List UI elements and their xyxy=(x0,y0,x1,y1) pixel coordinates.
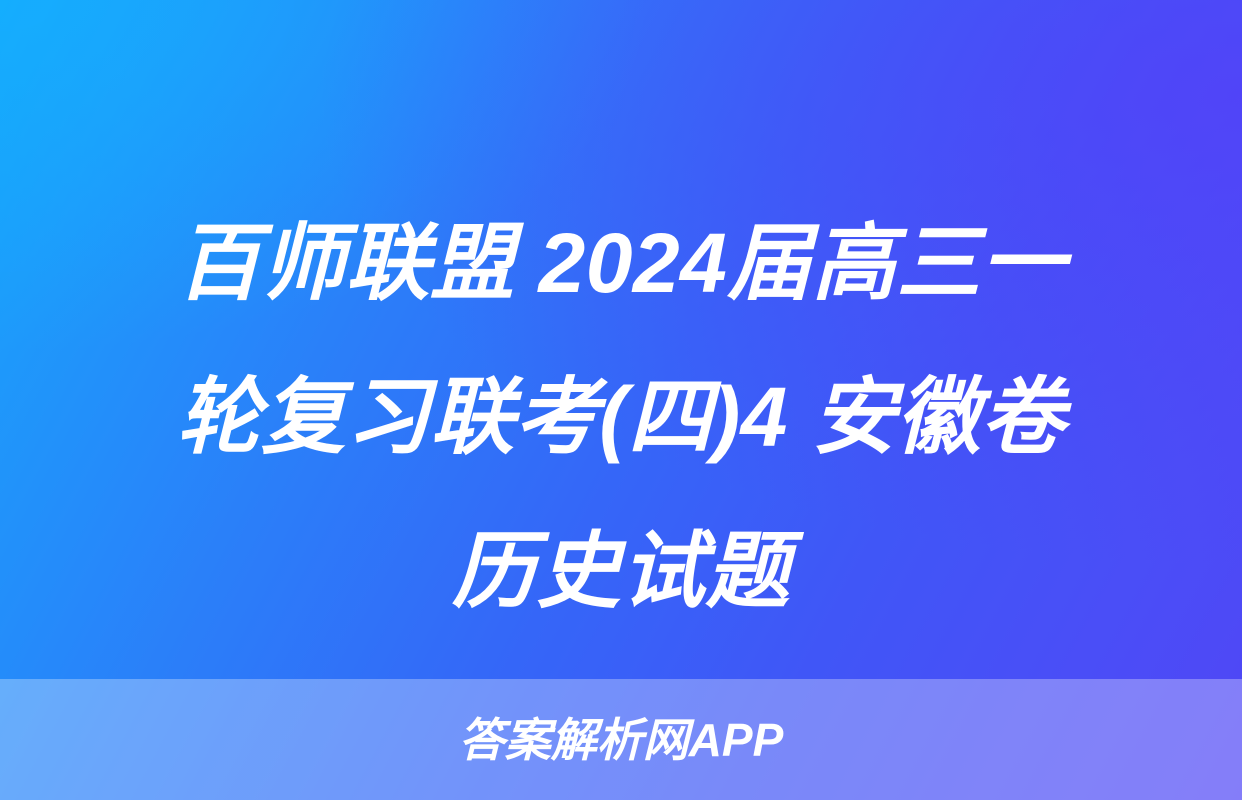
page-title: 百师联盟 2024届高三一 轮复习联考(四)4 安徽卷 历史试题 xyxy=(0,186,1242,648)
title-line-2: 轮复习联考(四)4 安徽卷 xyxy=(60,340,1182,494)
title-line-1: 百师联盟 2024届高三一 xyxy=(60,186,1182,340)
title-line-3: 历史试题 xyxy=(60,494,1182,648)
app-brand-label: 答案解析网APP xyxy=(459,717,784,763)
footer-band: 答案解析网APP xyxy=(0,679,1242,800)
poster-canvas: 百师联盟 2024届高三一 轮复习联考(四)4 安徽卷 历史试题 答案解析网AP… xyxy=(0,0,1242,800)
